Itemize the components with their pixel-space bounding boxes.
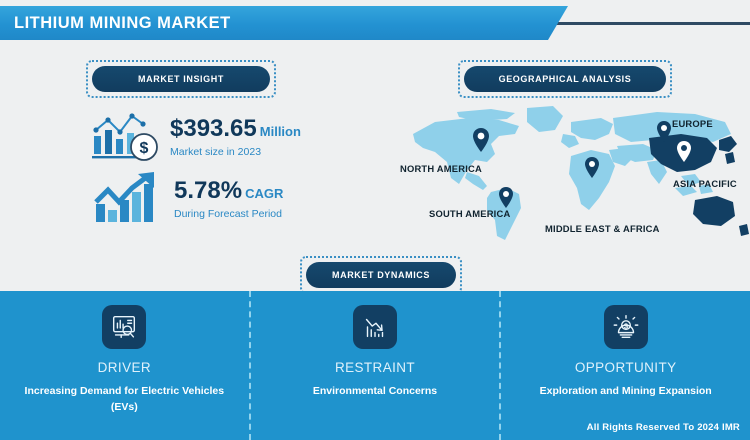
stat-cagr: 5.78%CAGR During Forecast Period (92, 170, 283, 228)
stat-cagr-value: 5.78% (174, 177, 242, 204)
panel-restraint-title: RESTRAINT (335, 360, 415, 375)
map-label-asia-pacific: ASIA PACIFIC (673, 178, 737, 189)
header-accent-line (555, 22, 750, 25)
panel-driver-title: DRIVER (98, 360, 151, 375)
chart-magnifier-icon (102, 305, 146, 349)
svg-text:$: $ (140, 140, 149, 157)
header-banner: LITHIUM MINING MARKET (0, 6, 750, 40)
growth-arrow-icon (92, 170, 166, 228)
stat-market-size-text: $393.65Million Market size in 2023 (170, 116, 301, 157)
badge-geographical-analysis-label: GEOGRAPHICAL ANALYSIS (499, 74, 632, 84)
infographic-page: LITHIUM MINING MARKET MARKET INSIGHT (0, 0, 750, 440)
map-label-south-america: SOUTH AMERICA (429, 208, 510, 219)
panel-driver-description: Increasing Demand for Electric Vehicles … (17, 384, 232, 416)
stat-market-size-value-row: $393.65Million (170, 116, 301, 141)
stat-cagr-caption: During Forecast Period (174, 208, 283, 220)
page-title: LITHIUM MINING MARKET (14, 14, 231, 33)
badge-market-dynamics-pill: MARKET DYNAMICS (306, 262, 456, 288)
map-label-middle-east-africa: MIDDLE EAST & AFRICA (545, 223, 660, 234)
badge-market-dynamics-label: MARKET DYNAMICS (332, 270, 430, 280)
declining-chart-icon (353, 305, 397, 349)
panel-restraint: RESTRAINT Environmental Concerns (249, 291, 500, 440)
stat-market-size-unit: Million (260, 124, 301, 139)
stat-cagr-unit: CAGR (245, 186, 283, 201)
map-label-north-america: NORTH AMERICA (400, 163, 482, 174)
badge-geographical-analysis-pill: GEOGRAPHICAL ANALYSIS (464, 66, 666, 92)
market-dynamics-panels: DRIVER Increasing Demand for Electric Ve… (0, 291, 750, 440)
footer-copyright: All Rights Reserved To 2024 IMR (587, 422, 740, 433)
badge-geographical-analysis: GEOGRAPHICAL ANALYSIS (458, 60, 672, 98)
stat-cagr-value-row: 5.78%CAGR (174, 178, 283, 203)
badge-market-dynamics: MARKET DYNAMICS (300, 256, 462, 294)
map-label-europe: EUROPE (672, 118, 713, 129)
bar-chart-dollar-icon: $ (88, 108, 162, 166)
stat-cagr-text: 5.78%CAGR During Forecast Period (174, 178, 283, 219)
panel-opportunity: $ OPPORTUNITY Exploration and Mining Exp… (499, 291, 750, 440)
badge-market-insight-label: MARKET INSIGHT (138, 74, 224, 84)
panel-opportunity-title: OPPORTUNITY (575, 360, 677, 375)
badge-market-insight: MARKET INSIGHT (86, 60, 276, 98)
panel-restraint-description: Environmental Concerns (313, 384, 437, 400)
stat-market-size: $ $393.65Million Market size in 2023 (88, 108, 301, 166)
lightbulb-dollar-icon: $ (604, 305, 648, 349)
panel-driver: DRIVER Increasing Demand for Electric Ve… (0, 291, 249, 440)
stat-market-size-value: $393.65 (170, 115, 257, 142)
stat-market-size-caption: Market size in 2023 (170, 146, 301, 158)
panel-opportunity-description: Exploration and Mining Expansion (540, 384, 712, 400)
badge-market-insight-pill: MARKET INSIGHT (92, 66, 270, 92)
